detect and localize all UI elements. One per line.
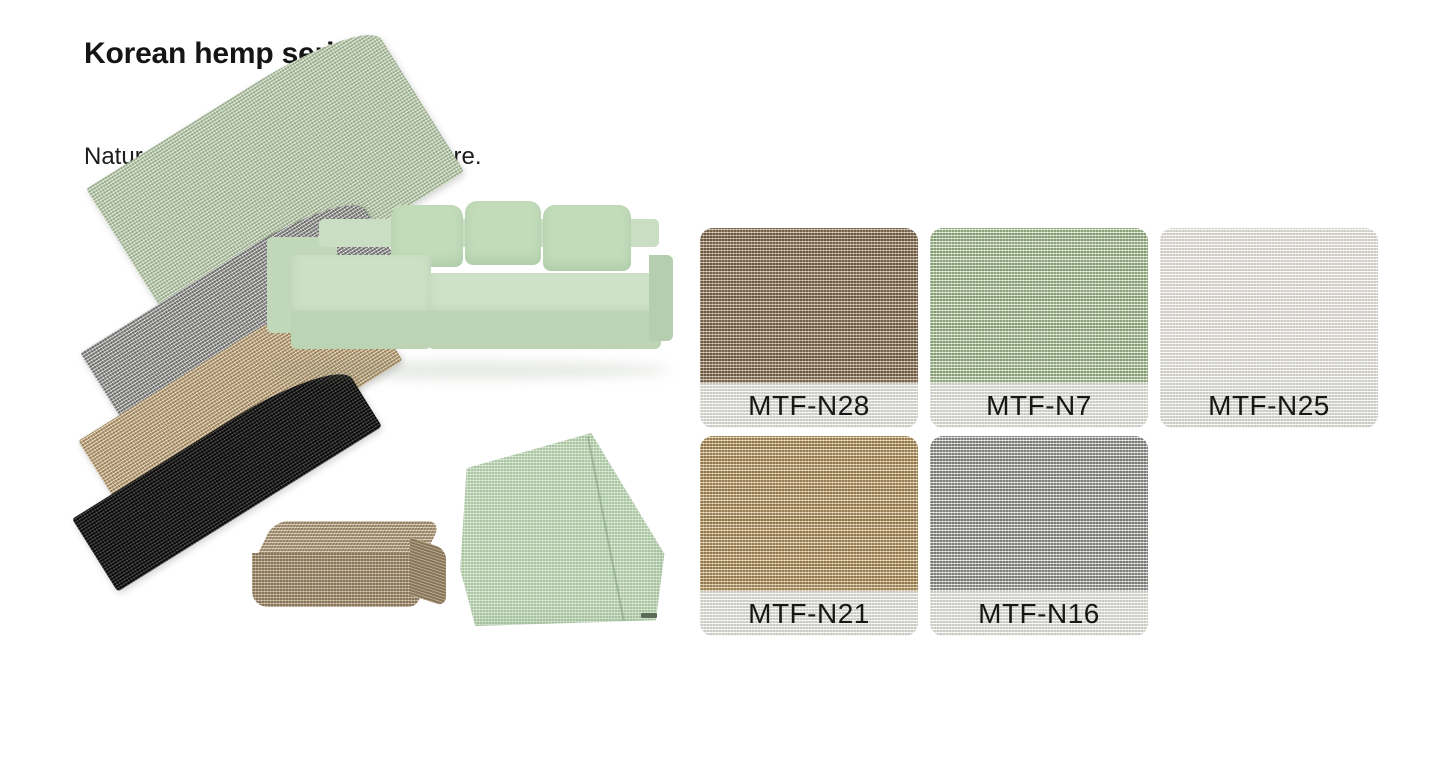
swatch-label-band: MTF-N25 (1160, 383, 1378, 428)
sofa-chaise-base (291, 311, 431, 349)
sectional-sofa (263, 193, 678, 383)
bolster-front-face (252, 553, 420, 607)
swatch-label-band: MTF-N21 (700, 591, 918, 636)
swatch-card-mtf-n28[interactable]: MTF-N28 (700, 228, 918, 428)
sofa-main-seat (429, 273, 661, 315)
swatch-label-mtf-n28: MTF-N28 (748, 392, 870, 420)
sofa-shadow (271, 361, 671, 379)
swatch-label-mtf-n16: MTF-N16 (978, 600, 1100, 628)
swatch-label-mtf-n21: MTF-N21 (748, 600, 870, 628)
wedge-brand-tag (641, 613, 657, 618)
wedge-backrest-pillow (458, 433, 673, 628)
bolster-side-face (410, 537, 446, 607)
product-photo (78, 183, 678, 655)
sofa-back-cushion-3 (543, 205, 631, 271)
swatch-fabric-mtf-n25 (1160, 228, 1378, 383)
swatch-fabric-mtf-n28 (700, 228, 918, 383)
swatch-fabric-mtf-n16 (930, 436, 1148, 591)
swatch-card-mtf-n7[interactable]: MTF-N7 (930, 228, 1148, 428)
wedge-body (458, 433, 673, 628)
sofa-back-cushion-2 (465, 201, 541, 265)
swatch-card-mtf-n16[interactable]: MTF-N16 (930, 436, 1148, 636)
swatch-label-band: MTF-N7 (930, 383, 1148, 428)
swatch-label-mtf-n25: MTF-N25 (1208, 392, 1330, 420)
swatch-card-mtf-n21[interactable]: MTF-N21 (700, 436, 918, 636)
sofa-chaise-seat (291, 255, 431, 317)
swatch-label-mtf-n7: MTF-N7 (986, 392, 1092, 420)
sofa-main-base (429, 311, 661, 349)
swatch-card-mtf-n25[interactable]: MTF-N25 (1160, 228, 1378, 428)
sofa-right-side (649, 255, 673, 341)
swatch-fabric-mtf-n7 (930, 228, 1148, 383)
fabric-swatch-grid: MTF-N28 MTF-N7 MTF-N25 MTF-N21 MTF-N16 (700, 228, 1378, 636)
bolster-ottoman (250, 521, 445, 617)
swatch-label-band: MTF-N28 (700, 383, 918, 428)
swatch-label-band: MTF-N16 (930, 591, 1148, 636)
swatch-fabric-mtf-n21 (700, 436, 918, 591)
